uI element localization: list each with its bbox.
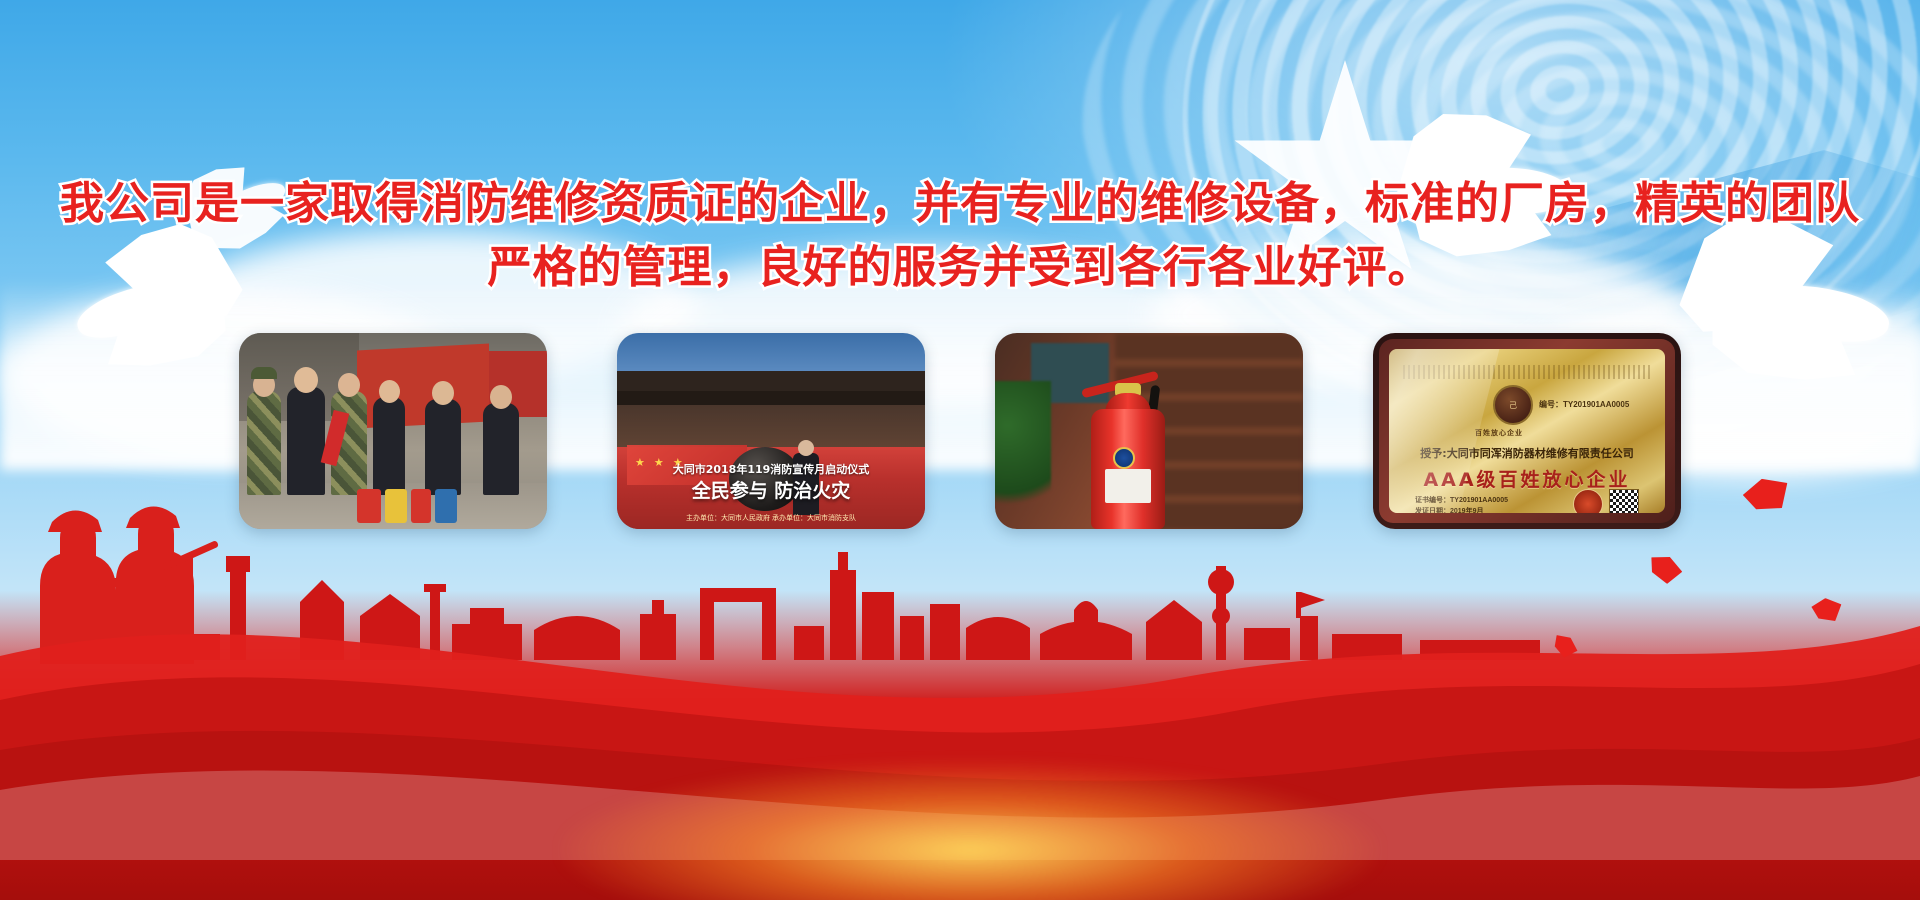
extinguisher-seal-icon (1113, 447, 1135, 469)
photo-award-plaque[interactable]: 己 百姓放心企业 编号：TY201901AA0005 授予:大同市同浑消防器材维… (1373, 333, 1681, 529)
promo-banner: 我公司是一家取得消防维修资质证的企业，并有专业的维修设备，标准的厂房，精英的团队… (0, 0, 1920, 900)
headline-block: 我公司是一家取得消防维修资质证的企业，并有专业的维修设备，标准的厂房，精英的团队… (0, 172, 1920, 300)
ceremony-caption-top: 大同市2018年119消防宣传月启动仪式 (617, 461, 925, 477)
headline-line-1: 我公司是一家取得消防维修资质证的企业，并有专业的维修设备，标准的厂房，精英的团队 (0, 172, 1920, 236)
photo-inspection[interactable] (239, 333, 547, 529)
photo-strip: ★ ★ ★ 大同市2018年119消防宣传月启动仪式 全民参与 防治火灾 主办单… (0, 333, 1920, 533)
award-title: AAA级百姓放心企业 (1389, 465, 1665, 492)
qr-code-icon (1609, 489, 1639, 513)
headline-line-2: 严格的管理，良好的服务并受到各行各业好评。 (0, 236, 1920, 300)
ceremony-caption-main: 全民参与 防治火灾 (617, 476, 925, 503)
award-cert-number: 编号：TY201901AA0005 (1539, 399, 1629, 410)
photo-extinguisher[interactable] (995, 333, 1303, 529)
bottom-glow (560, 760, 1380, 900)
award-issue-date: 发证日期：2019年9月 (1415, 506, 1524, 513)
award-meta: 证书编号：TY201901AA0005 发证日期：2019年9月 查询网址：WW… (1415, 495, 1524, 513)
award-seal-icon: 己 (1493, 385, 1533, 425)
award-cert-code: 证书编号：TY201901AA0005 (1415, 495, 1524, 506)
ceremony-caption-sub: 主办单位：大同市人民政府 承办单位：大同市消防支队 (617, 513, 925, 523)
award-badge-icon (1573, 489, 1603, 513)
photo-ceremony[interactable]: ★ ★ ★ 大同市2018年119消防宣传月启动仪式 全民参与 防治火灾 主办单… (617, 333, 925, 529)
award-recipient: 授予:大同市同浑消防器材维修有限责任公司 (1389, 445, 1665, 461)
award-seal-label: 百姓放心企业 (1475, 428, 1523, 438)
